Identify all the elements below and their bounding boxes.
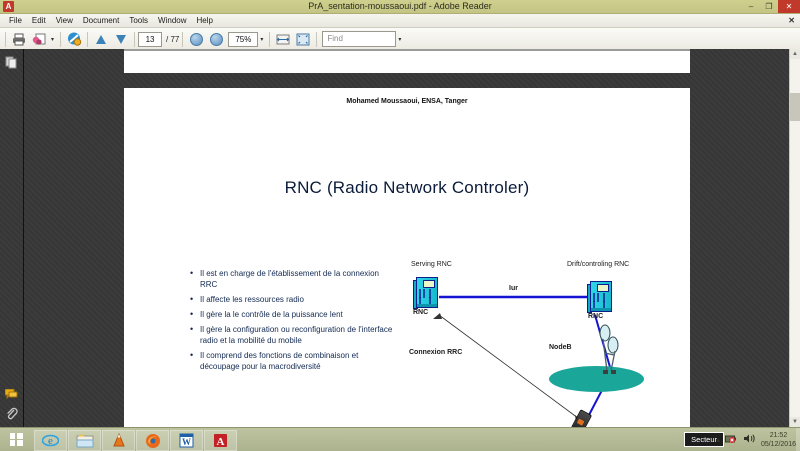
scroll-down-button[interactable]: ▼	[790, 417, 800, 427]
menu-bar: File Edit View Document Tools Window Hel…	[0, 14, 800, 28]
drift-rnc-label: Drift/controling RNC	[567, 261, 629, 268]
menu-view[interactable]: View	[51, 14, 78, 27]
bullet-marker: •	[190, 294, 200, 305]
menu-window[interactable]: Window	[153, 14, 191, 27]
taskbar-item-internet-explorer[interactable]: e	[34, 430, 67, 451]
clock-date: 05/12/2016	[761, 440, 796, 449]
bullet-marker: •	[190, 309, 200, 320]
menu-help[interactable]: Help	[192, 14, 218, 27]
page-thumbnails-icon[interactable]	[4, 55, 19, 70]
svg-text:A: A	[217, 436, 225, 448]
bullet-text: Il gère la configuration ou reconfigurat…	[200, 324, 395, 346]
taskbar-item-adobe-reader[interactable]: A	[204, 430, 237, 451]
toolbar: ▾ 13 / 77 75% ▾	[0, 28, 800, 51]
toolbar-separator	[134, 32, 135, 47]
nodeb-antenna-icon	[589, 323, 639, 383]
drift-rnc-node	[587, 281, 613, 311]
window-title: PrA_sentation-moussaoui.pdf - Adobe Read…	[0, 0, 800, 13]
clock[interactable]: 21:52 05/12/2016	[761, 431, 798, 449]
document-viewport[interactable]: Mohamed Moussaoui, ENSA, Tanger RNC (Rad…	[24, 49, 790, 427]
toolbar-separator	[316, 32, 317, 47]
fit-width-icon[interactable]	[273, 29, 293, 49]
toolbar-separator	[60, 32, 61, 47]
bullet-list: • Il est en charge de l'établissement de…	[190, 268, 395, 376]
find-input[interactable]: Find	[322, 31, 396, 47]
zoom-out-icon[interactable]	[186, 29, 206, 49]
pdf-page: Mohamed Moussaoui, ENSA, Tanger RNC (Rad…	[124, 88, 690, 427]
rnc-network-diagram: Serving RNC Drift/controling RNC Iur Con…	[399, 253, 679, 427]
list-item: • Il affecte les ressources radio	[190, 294, 395, 305]
taskbar-item-mozilla-firefox[interactable]	[136, 430, 169, 451]
toolbar-separator	[5, 32, 6, 47]
page-header-text: Mohamed Moussaoui, ENSA, Tanger	[346, 98, 467, 105]
start-button[interactable]	[2, 430, 30, 449]
navigation-pane	[0, 49, 24, 427]
scroll-up-button[interactable]: ▲	[790, 49, 800, 59]
show-desktop-button[interactable]	[796, 428, 800, 451]
show-hidden-icons-button[interactable]: ▴	[716, 436, 720, 444]
toolbar-separator	[269, 32, 270, 47]
email-attach-icon[interactable]	[29, 29, 49, 49]
work-area: Mohamed Moussaoui, ENSA, Tanger RNC (Rad…	[0, 49, 800, 427]
list-item: • Il comprend des fonctions de combinais…	[190, 350, 395, 372]
taskbar: e	[0, 427, 800, 451]
battery-icon[interactable]	[725, 431, 738, 449]
bullet-text: Il affecte les ressources radio	[200, 294, 304, 305]
screen: A PrA_sentation-moussaoui.pdf - Adobe Re…	[0, 0, 800, 450]
list-item: • Il gère la configuration ou reconfigur…	[190, 324, 395, 346]
adobe-reader-window: A PrA_sentation-moussaoui.pdf - Adobe Re…	[0, 0, 800, 427]
page-total-label: / 77	[166, 35, 179, 44]
title-bar[interactable]: A PrA_sentation-moussaoui.pdf - Adobe Re…	[0, 0, 800, 14]
zoom-in-icon[interactable]	[206, 29, 226, 49]
fit-page-icon[interactable]	[293, 29, 313, 49]
print-icon[interactable]	[9, 29, 29, 49]
window-controls: – ❐ ✕	[742, 0, 800, 13]
rrc-connection-label: Connexion RRC	[409, 349, 462, 356]
bullet-text: Il comprend des fonctions de combinaison…	[200, 350, 395, 372]
find-dropdown-caret[interactable]: ▾	[398, 36, 401, 43]
toolbar-separator	[87, 32, 88, 47]
serving-rnc-node	[413, 277, 439, 307]
previous-page-partial	[124, 49, 690, 73]
clock-time: 21:52	[761, 431, 796, 440]
windows-logo-icon	[10, 433, 23, 446]
svg-text:e: e	[48, 435, 53, 447]
paperclip-attachment-icon[interactable]	[4, 406, 19, 421]
list-item: • Il gère la le contrôle de la puissance…	[190, 309, 395, 320]
close-document-button[interactable]: ✕	[788, 16, 795, 25]
iur-link-label: Iur	[509, 285, 518, 292]
arrow-up-icon[interactable]	[91, 29, 111, 49]
taskbar-item-vlc-media-player[interactable]	[102, 430, 135, 451]
svg-text:W: W	[182, 437, 191, 447]
slide-title: RNC (Radio Network Controler)	[124, 178, 690, 198]
zoom-dropdown-caret[interactable]: ▾	[260, 36, 263, 43]
menu-edit[interactable]: Edit	[27, 14, 51, 27]
bullet-marker: •	[190, 268, 200, 290]
bullet-marker: •	[190, 324, 200, 346]
list-item: • Il est en charge de l'établissement de…	[190, 268, 395, 290]
system-tray: ▴ 21:52 05/12/2016	[716, 428, 798, 451]
menu-document[interactable]: Document	[78, 14, 124, 27]
page-top-edge	[124, 49, 690, 51]
minimize-button[interactable]: –	[742, 0, 760, 13]
taskbar-items: e	[34, 430, 237, 449]
volume-icon[interactable]	[743, 431, 756, 449]
menu-tools[interactable]: Tools	[124, 14, 153, 27]
serving-rnc-label: Serving RNC	[411, 261, 452, 268]
toolbar-separator	[182, 32, 183, 47]
menu-file[interactable]: File	[4, 14, 27, 27]
page-number-input[interactable]: 13	[138, 32, 162, 47]
arrow-down-icon[interactable]	[111, 29, 131, 49]
close-button[interactable]: ✕	[778, 0, 800, 13]
drift-rnc-box-label: RNC	[588, 313, 603, 320]
bullet-text: Il gère la le contrôle de la puissance l…	[200, 309, 343, 320]
taskbar-item-file-explorer[interactable]	[68, 430, 101, 451]
zoom-level-input[interactable]: 75%	[228, 32, 258, 47]
nodeb-label: NodeB	[549, 344, 572, 351]
taskbar-item-microsoft-word[interactable]: W	[170, 430, 203, 451]
snapshot-icon[interactable]	[64, 29, 84, 49]
comments-icon[interactable]	[4, 387, 19, 402]
bullet-text: Il est en charge de l'établissement de l…	[200, 268, 395, 290]
vertical-scrollbar[interactable]: ▲ ▼	[789, 49, 800, 427]
restore-button[interactable]: ❐	[760, 0, 778, 13]
scroll-thumb[interactable]	[790, 93, 800, 121]
serving-rnc-box-label: RNC	[413, 309, 428, 316]
email-dropdown-caret[interactable]: ▾	[51, 36, 54, 43]
bullet-marker: •	[190, 350, 200, 372]
